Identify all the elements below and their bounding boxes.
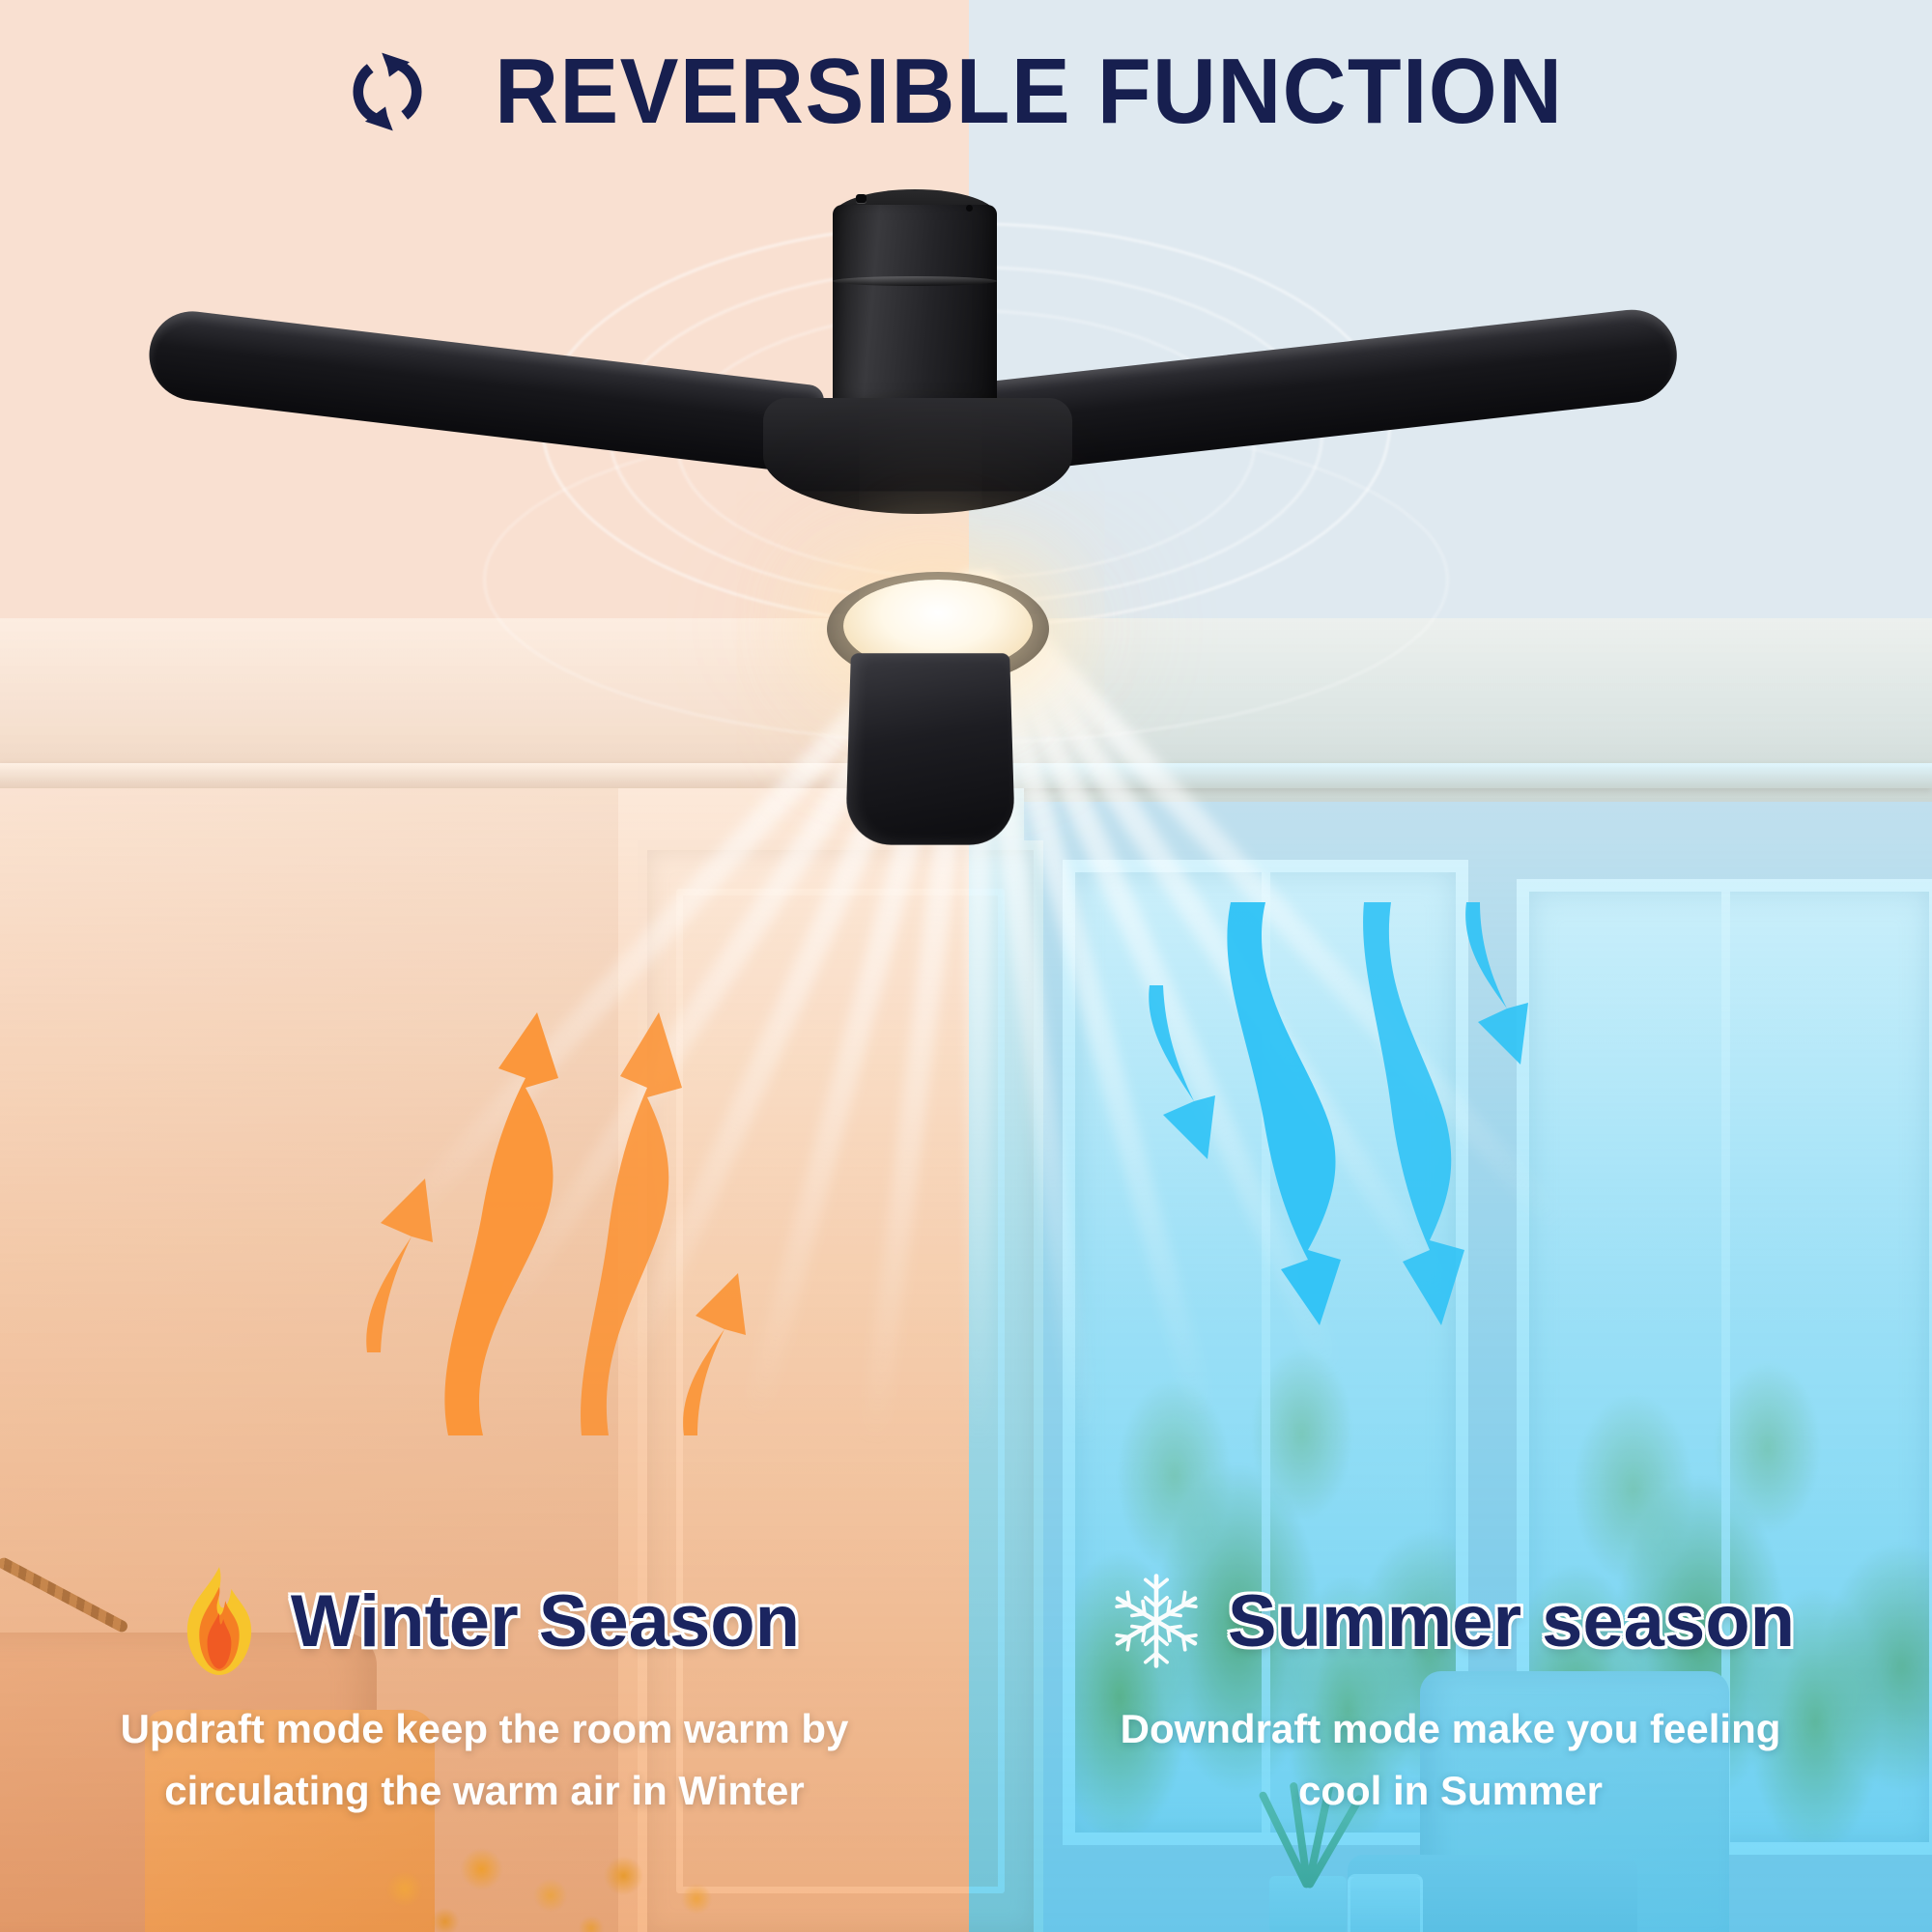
season-block-winter: Winter Season Updraft mode keep the room… (0, 1557, 969, 1822)
product-feature-banner: REVERSIBLE FUNCTION Winter Season Updraf… (0, 0, 1932, 1932)
season-heading: Winter Season (0, 1557, 969, 1685)
season-description: Downdraft mode make you feeling cool in … (969, 1698, 1932, 1822)
motor-vent-icon (966, 205, 973, 212)
season-description-line-1: Downdraft mode make you feeling (1002, 1698, 1899, 1760)
season-description: Updraft mode keep the room warm by circu… (0, 1698, 969, 1822)
fire-icon (169, 1565, 270, 1677)
snowflake-icon (1106, 1565, 1207, 1677)
fan-hub (763, 398, 1072, 514)
fan-blade-front (845, 653, 1015, 844)
season-description-line-2: cool in Summer (1002, 1760, 1899, 1822)
reverse-cycle-icon (341, 45, 434, 138)
fan-blade-left (145, 306, 825, 474)
season-title: Summer season (1228, 1579, 1795, 1663)
fan-motor-housing (833, 205, 997, 417)
header: REVERSIBLE FUNCTION (0, 0, 1932, 184)
season-title: Winter Season (291, 1579, 800, 1663)
motor-screw-icon (856, 194, 867, 203)
page-title: REVERSIBLE FUNCTION (495, 39, 1563, 145)
season-heading: Summer season (969, 1557, 1932, 1685)
season-block-summer: Summer season Downdraft mode make you fe… (969, 1557, 1932, 1822)
motor-seam (833, 276, 997, 286)
season-description-line-2: circulating the warm air in Winter (33, 1760, 936, 1822)
season-description-line-1: Updraft mode keep the room warm by (33, 1698, 936, 1760)
